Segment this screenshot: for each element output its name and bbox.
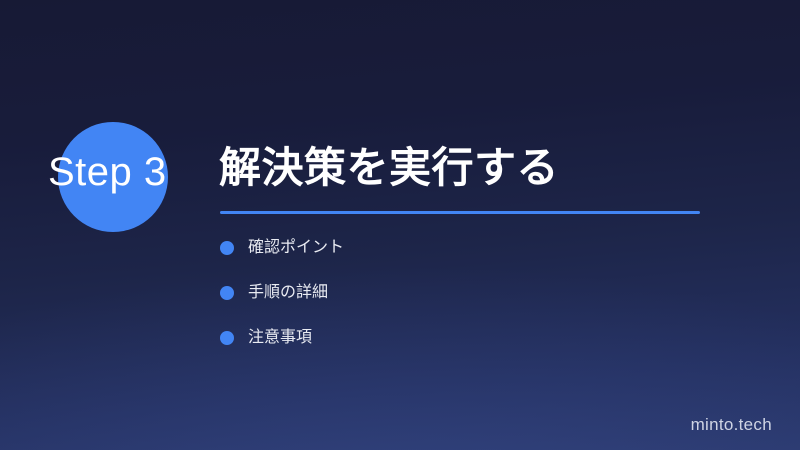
list-item-label: 確認ポイント <box>248 238 344 258</box>
footer-brand: minto.tech <box>691 414 772 436</box>
step-badge-label: Step 3 <box>48 151 167 193</box>
bullet-list: 確認ポイント 手順の詳細 注意事項 <box>220 234 690 352</box>
bullet-dot-icon <box>220 286 234 300</box>
title-divider <box>220 211 700 214</box>
list-item: 注意事項 <box>220 324 690 352</box>
slide-canvas: Step 3 解決策を実行する 確認ポイント 手順の詳細 注意事項 minto.… <box>0 0 800 450</box>
bullet-dot-icon <box>220 241 234 255</box>
bullet-dot-icon <box>220 331 234 345</box>
list-item: 手順の詳細 <box>220 279 690 307</box>
list-item: 確認ポイント <box>220 234 690 262</box>
list-item-label: 手順の詳細 <box>248 283 328 303</box>
list-item-label: 注意事項 <box>248 328 312 348</box>
page-title: 解決策を実行する <box>219 143 559 193</box>
